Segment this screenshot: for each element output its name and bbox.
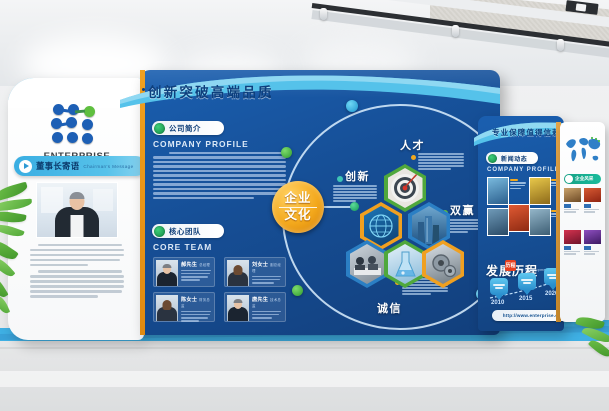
- green-circle-icon: [488, 154, 497, 163]
- gallery-photo[interactable]: [584, 230, 601, 244]
- chairman-title-en: Chairman's Message: [83, 164, 133, 169]
- gears-industry-icon: [426, 244, 461, 284]
- gallery-board: 企业风采: [560, 122, 605, 322]
- keyword-bullet-icon: [411, 155, 416, 160]
- ring-dot: [281, 147, 292, 158]
- culture-wall-photo: ENTERPRISE LOGO 董事长寄语 Chairman's Message: [0, 0, 609, 411]
- culture-center-badge: 企业 文化: [272, 181, 324, 233]
- chairman-message-panel[interactable]: ENTERPRISE LOGO 董事长寄语 Chairman's Message: [8, 78, 144, 340]
- keyword-dot: [337, 176, 343, 182]
- milestone-year: 2015: [519, 296, 532, 302]
- avatar: [227, 260, 249, 286]
- news-pill[interactable]: 新闻动态: [486, 152, 538, 164]
- chairman-portrait: [36, 182, 118, 238]
- map-pin-icon: [518, 273, 536, 295]
- company-profile-body: [153, 152, 286, 201]
- chairman-message-text: [30, 244, 124, 300]
- table-row[interactable]: 陈女士财务总监: [153, 292, 215, 322]
- milestone-year: 2010: [491, 300, 504, 306]
- gallery-caption: [564, 246, 581, 256]
- gallery-caption: [564, 204, 581, 214]
- table-row[interactable]: 刘女士副总经理: [224, 257, 286, 287]
- hexagon-cluster: [346, 164, 464, 292]
- company-profile-pill[interactable]: 公司简介: [152, 121, 224, 135]
- member-name: 郝先生: [181, 262, 197, 268]
- news-photo[interactable]: [529, 208, 551, 236]
- news-photo[interactable]: [508, 204, 530, 232]
- core-team-label-en: CORE TEAM: [153, 242, 212, 252]
- ring-dot: [292, 285, 303, 296]
- member-name: 陈女士: [181, 297, 197, 303]
- gallery-pill[interactable]: 企业风采: [564, 174, 601, 184]
- table-row[interactable]: 唐先生技术总监: [224, 292, 286, 322]
- right-board-title: 专业保障值得信赖: [492, 127, 561, 138]
- floor-baseline: [0, 347, 609, 349]
- dot-matrix-logo-icon: [51, 104, 103, 148]
- play-triangle-icon: [19, 160, 32, 173]
- globe-network-icon: [364, 206, 399, 246]
- news-photo[interactable]: [529, 177, 551, 205]
- member-name: 唐先生: [252, 297, 268, 303]
- culture-center-line2: 文化: [284, 209, 311, 222]
- title-dot-right: [268, 95, 271, 98]
- core-team-pill[interactable]: 核心团队: [152, 224, 224, 238]
- news-label-en: COMPANY PROFILE: [487, 167, 560, 173]
- map-pin-icon: [490, 278, 508, 300]
- track-light-icon: [320, 8, 327, 20]
- news-text: [510, 179, 526, 190]
- gallery-photo[interactable]: [584, 188, 601, 202]
- development-badge: 历程: [505, 260, 516, 271]
- track-light-icon: [557, 39, 564, 51]
- gallery-caption: [584, 246, 601, 256]
- chairman-title-cn: 董事长寄语: [36, 160, 79, 172]
- title-dot-left: [142, 88, 145, 91]
- gallery-caption: [584, 204, 601, 214]
- keyword-talent: 人才: [400, 137, 425, 153]
- avatar: [156, 295, 178, 321]
- ring-dot: [346, 100, 358, 112]
- page-title: 创新突破高端品质: [148, 81, 274, 101]
- lab-science-icon: [388, 244, 423, 284]
- avatar: [156, 260, 178, 286]
- company-profile-label-en: COMPANY PROFILE: [153, 139, 249, 149]
- news-label-cn: 新闻动态: [501, 154, 527, 163]
- city-skyline-icon: [412, 206, 447, 246]
- member-name: 刘女士: [252, 262, 268, 268]
- target-dartboard-icon: [388, 168, 423, 208]
- green-circle-icon: [154, 226, 165, 237]
- gallery-photo[interactable]: [564, 230, 581, 244]
- white-circle-icon: [565, 175, 573, 183]
- keyword-integrity: 诚信: [377, 300, 402, 316]
- chairman-message-bar[interactable]: 董事长寄语 Chairman's Message: [14, 156, 144, 176]
- hex-target: [384, 164, 426, 212]
- news-photo[interactable]: [487, 208, 509, 236]
- ceiling-spot-lens: [576, 3, 587, 11]
- news-photo[interactable]: [487, 177, 509, 205]
- world-map-icon: [563, 130, 602, 170]
- handshake-meeting-icon: [350, 244, 385, 284]
- gallery-label-cn: 企业风采: [575, 176, 593, 182]
- culture-center-line1: 企业: [284, 192, 311, 205]
- floor-reflection: [0, 371, 609, 387]
- table-row[interactable]: 郝先生总经理: [153, 257, 215, 287]
- green-circle-icon: [154, 123, 165, 134]
- hex-lab: [384, 240, 426, 288]
- track-light-icon: [452, 25, 459, 37]
- gallery-photo[interactable]: [564, 188, 581, 202]
- core-team-label-cn: 核心团队: [169, 226, 201, 237]
- company-profile-label-cn: 公司简介: [169, 123, 201, 134]
- member-role: 总经理: [199, 263, 210, 267]
- avatar: [227, 295, 249, 321]
